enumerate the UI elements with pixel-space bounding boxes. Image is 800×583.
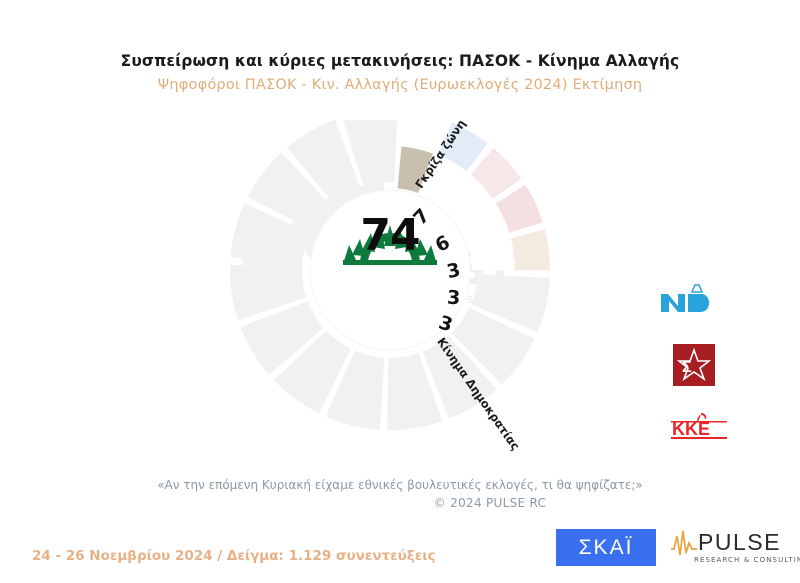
title-block: Συσπείρωση και κύριες μετακινήσεις: ΠΑΣΟ… xyxy=(0,52,800,93)
poll-chart-page: Συσπείρωση και κύριες μετακινήσεις: ΠΑΣΟ… xyxy=(0,0,800,583)
segment-inner-kinima-dim xyxy=(469,239,514,271)
radial-segments-svg xyxy=(175,120,625,465)
page-title: Συσπείρωση και κύριες μετακινήσεις: ΠΑΣΟ… xyxy=(0,52,800,71)
skai-logo[interactable]: ΣΚΑΪ xyxy=(556,529,656,566)
pulse-logo[interactable]: PULSE RESEARCH & CONSULTING xyxy=(670,529,790,569)
syriza-star-icon: Σ xyxy=(677,348,711,382)
svg-text:Σ: Σ xyxy=(682,359,692,376)
copyright-notice: © 2024 PULSE RC xyxy=(0,496,800,510)
pulse-waveform-icon xyxy=(670,529,698,559)
poll-question: «Αν την επόμενη Κυριακή είχαμε εθνικές β… xyxy=(0,478,800,492)
skai-logo-text: ΣΚΑΪ xyxy=(579,536,634,560)
page-subtitle: Ψηφοφόροι ΠΑΣΟΚ - Κιν. Αλλαγής (Ευρωεκλο… xyxy=(0,77,800,93)
date-and-sample: 24 - 26 Νοεμβρίου 2024 / Δείγμα: 1.129 σ… xyxy=(32,548,436,564)
segment-outer-kinima-dim xyxy=(511,229,550,270)
kke-logo[interactable]: KKE xyxy=(670,412,730,442)
pulse-logo-text: PULSE xyxy=(698,529,781,556)
segment-value-kke: 3 xyxy=(446,287,460,310)
pulse-logo-tagline: RESEARCH & CONSULTING xyxy=(694,556,800,564)
syriza-logo[interactable]: Σ xyxy=(673,344,715,386)
donut-chart: PULSE RESEARCH & CONSULTING xyxy=(175,120,625,465)
nd-logo[interactable] xyxy=(659,283,711,317)
